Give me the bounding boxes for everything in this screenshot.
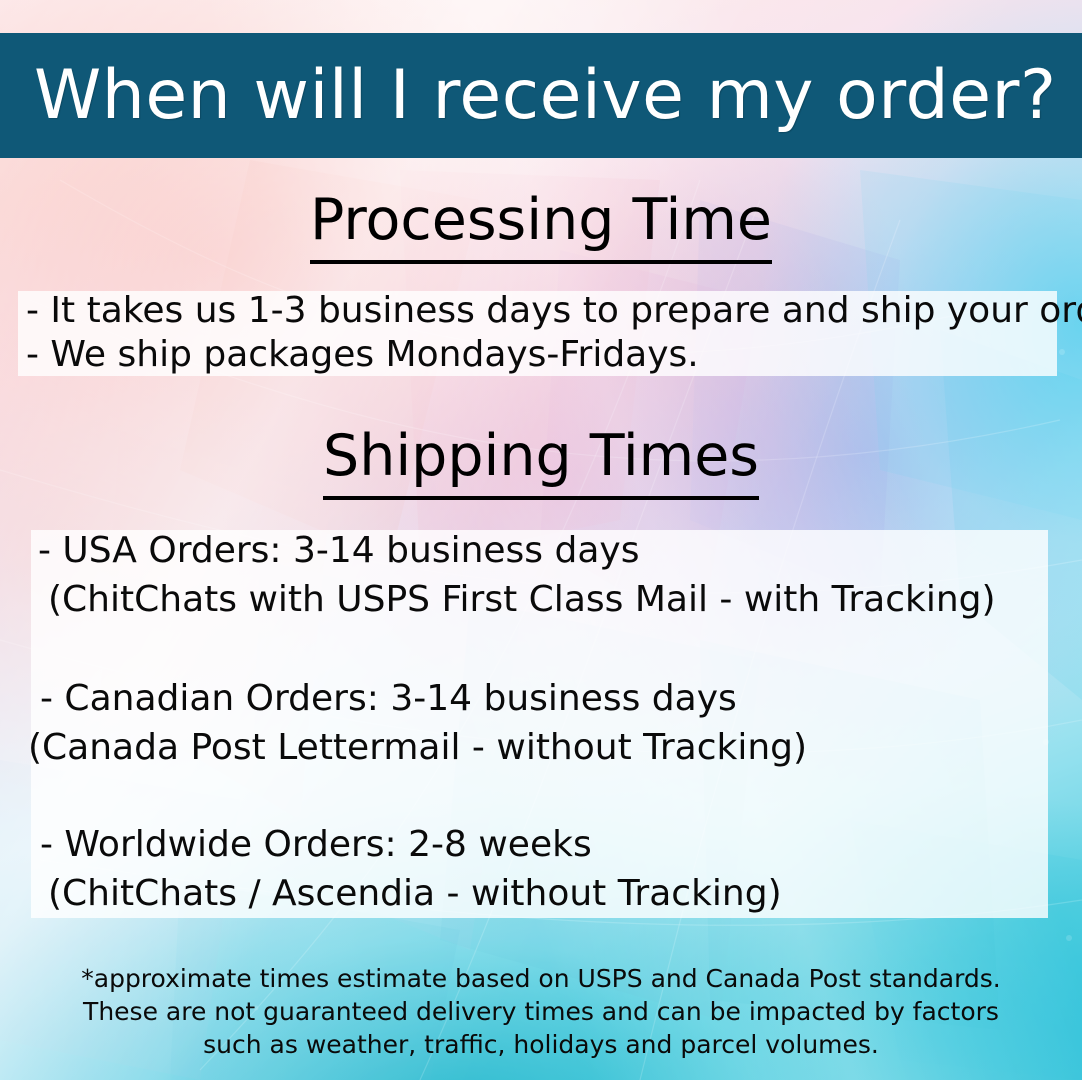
shipping-info-poster: When will I receive my order? Processing… xyxy=(0,0,1082,1080)
shipping-canadian-line-2: (Canada Post Lettermail - without Tracki… xyxy=(28,730,807,766)
header-banner: When will I receive my order? xyxy=(0,33,1082,158)
processing-time-line-2: - We ship packages Mondays-Fridays. xyxy=(26,337,699,373)
footer-disclaimer-line-3: such as weather, traffic, holidays and p… xyxy=(0,1028,1082,1061)
page-title: When will I receive my order? xyxy=(0,62,1057,130)
section-heading-processing-time-label: Processing Time xyxy=(310,187,772,264)
shipping-worldwide-line-2: (ChitChats / Ascendia - without Tracking… xyxy=(48,876,782,912)
shipping-worldwide-line-1: - Worldwide Orders: 2-8 weeks xyxy=(40,827,592,863)
shipping-usa-line-1: - USA Orders: 3-14 business days xyxy=(38,533,639,569)
shipping-canadian-line-1: - Canadian Orders: 3-14 business days xyxy=(40,681,737,717)
footer-disclaimer-line-1: *approximate times estimate based on USP… xyxy=(0,962,1082,995)
footer-disclaimer: *approximate times estimate based on USP… xyxy=(0,962,1082,1061)
footer-disclaimer-line-2: These are not guaranteed delivery times … xyxy=(0,995,1082,1028)
shipping-usa-line-2: (ChitChats with USPS First Class Mail - … xyxy=(48,582,996,618)
section-heading-shipping-times-label: Shipping Times xyxy=(323,423,759,500)
section-heading-processing-time: Processing Time xyxy=(0,192,1082,249)
processing-time-line-1: - It takes us 1-3 business days to prepa… xyxy=(26,293,1082,329)
section-heading-shipping-times: Shipping Times xyxy=(0,428,1082,485)
